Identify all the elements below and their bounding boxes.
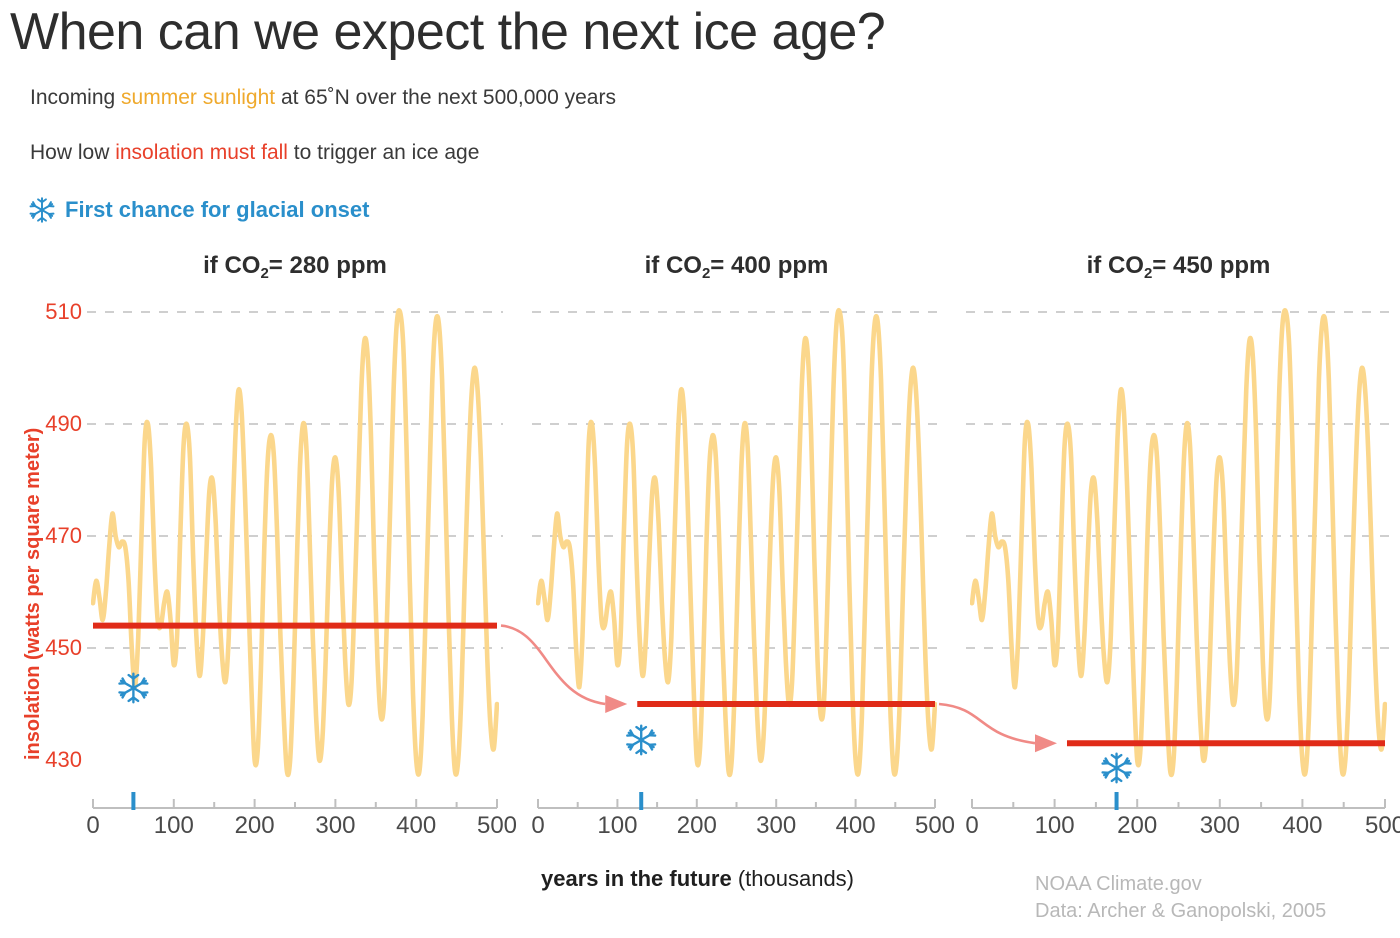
panel-connector-arrow-0 [501, 626, 627, 713]
insolation-chart [0, 0, 1400, 933]
glacial-onset-snowflake-400[interactable] [627, 726, 655, 755]
x-tick-450-100: 100 [1035, 812, 1075, 840]
x-tick-400-400: 400 [836, 812, 876, 840]
x-tick-280-300: 300 [315, 812, 355, 840]
x-tick-450-200: 200 [1117, 812, 1157, 840]
arrow-curve [501, 626, 605, 704]
snowflake-strokes [627, 726, 655, 755]
arrow-head [605, 695, 627, 713]
insolation-curve-450 [972, 310, 1385, 775]
source-line-1: NOAA Climate.gov [1035, 871, 1326, 898]
y-tick-450: 450 [30, 635, 82, 661]
y-tick-470: 470 [30, 523, 82, 549]
x-axis-caption-light: (thousands) [732, 866, 854, 891]
x-tick-280-400: 400 [396, 812, 436, 840]
x-axis-caption-bold: years in the future [541, 866, 732, 891]
x-tick-400-200: 200 [677, 812, 717, 840]
snowflake-strokes [119, 674, 147, 703]
panel-connector-arrow-1 [939, 704, 1057, 752]
source-credit: NOAA Climate.gov Data: Archer & Ganopols… [1035, 871, 1326, 925]
x-tick-450-300: 300 [1200, 812, 1240, 840]
source-line-2: Data: Archer & Ganopolski, 2005 [1035, 898, 1326, 925]
panel-title-280: if CO2= 280 ppm [53, 252, 537, 280]
x-tick-280-100: 100 [154, 812, 194, 840]
insolation-curve-280 [93, 310, 497, 775]
x-tick-450-500: 500 [1365, 812, 1400, 840]
y-axis-label: insolation (watts per square meter) [22, 428, 45, 760]
x-tick-400-300: 300 [756, 812, 796, 840]
y-tick-430: 430 [30, 747, 82, 773]
x-tick-280-500: 500 [477, 812, 517, 840]
y-tick-490: 490 [30, 411, 82, 437]
panel-title-450: if CO2= 450 ppm [932, 252, 1400, 280]
glacial-onset-snowflake-280[interactable] [119, 674, 147, 703]
x-tick-400-500: 500 [915, 812, 955, 840]
y-tick-510: 510 [30, 299, 82, 325]
x-axis-caption: years in the future (thousands) [541, 866, 854, 892]
arrow-curve [939, 704, 1035, 743]
x-tick-450-0: 0 [965, 812, 978, 840]
glacial-onset-snowflake-450[interactable] [1103, 754, 1131, 783]
snowflake-strokes [1103, 754, 1131, 783]
x-tick-280-0: 0 [86, 812, 99, 840]
x-tick-400-100: 100 [597, 812, 637, 840]
x-tick-280-200: 200 [235, 812, 275, 840]
arrow-head [1035, 734, 1057, 752]
panel-title-400: if CO2= 400 ppm [498, 252, 975, 280]
x-tick-400-0: 0 [531, 812, 544, 840]
x-tick-450-400: 400 [1282, 812, 1322, 840]
